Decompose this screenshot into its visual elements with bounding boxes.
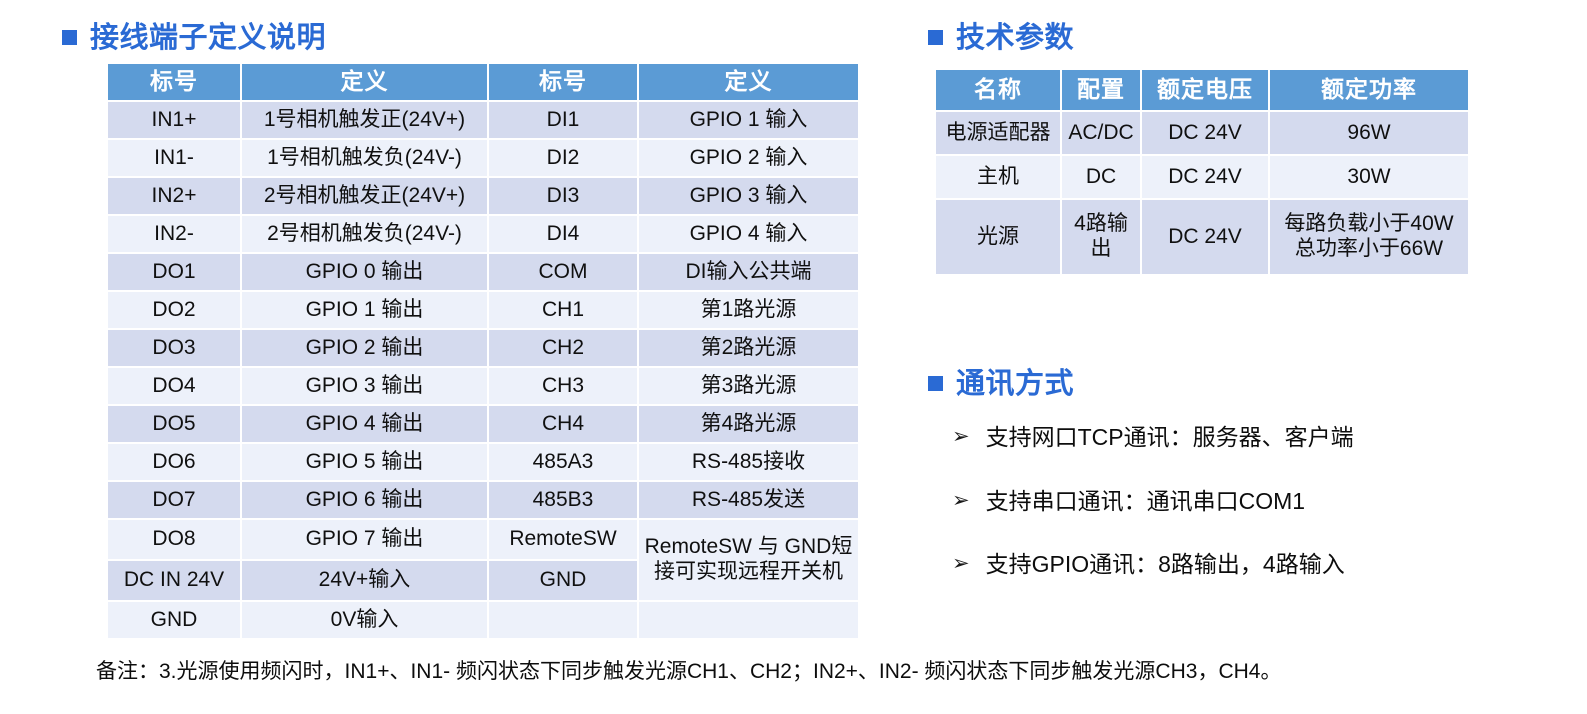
list-item: ➢ 支持串口通讯：通讯串口COM1 [952,488,1512,516]
column-header-rated-power: 额定功率 [1270,70,1468,110]
column-header-label-2: 标号 [489,64,637,100]
cell-definition-2: RS-485发送 [639,482,858,518]
table-row: IN1- 1号相机触发负(24V-) DI2 GPIO 2 输入 [108,140,858,176]
table-row: DO4 GPIO 3 输出 CH3 第3路光源 [108,368,858,404]
cell-label-2: CH2 [489,330,637,366]
cell-definition-2: GPIO 3 输入 [639,178,858,214]
cell-definition-1: GPIO 3 输出 [242,368,487,404]
cell-name: 光源 [936,200,1060,274]
cell-definition-1: GPIO 7 输出 [242,520,487,559]
list-item-label: 支持串口通讯：通讯串口COM1 [986,488,1305,516]
list-item: ➢ 支持网口TCP通讯：服务器、客户端 [952,424,1512,452]
communication-method-list: ➢ 支持网口TCP通讯：服务器、客户端 ➢ 支持串口通讯：通讯串口COM1 ➢ … [952,424,1512,615]
cell-label-1: GND [108,602,240,638]
technical-parameters-table: 名称 配置 额定电压 额定功率 电源适配器 AC/DC DC 24V 96W 主… [934,68,1470,276]
table-row: 主机 DC DC 24V 30W [936,156,1468,198]
list-item-label: 支持GPIO通讯：8路输出，4路输入 [986,551,1345,579]
cell-definition-1: GPIO 1 输出 [242,292,487,328]
table-row: DO8 GPIO 7 输出 RemoteSW RemoteSW 与 GND短接可… [108,520,858,559]
cell-label-2: RemoteSW [489,520,637,559]
cell-label-2: DI4 [489,216,637,252]
cell-definition-1: 1号相机触发负(24V-) [242,140,487,176]
table-row: DO3 GPIO 2 输出 CH2 第2路光源 [108,330,858,366]
table-row: 光源 4路输出 DC 24V 每路负载小于40W 总功率小于66W [936,200,1468,274]
square-bullet-icon [62,30,77,45]
cell-definition-2: 第4路光源 [639,406,858,442]
footnote-remark: 备注：3.光源使用频闪时，IN1+、IN1- 频闪状态下同步触发光源CH1、CH… [96,655,1281,685]
cell-definition-2: GPIO 1 输入 [639,102,858,138]
cell-label-1: IN2- [108,216,240,252]
cell-definition-2: GPIO 4 输入 [639,216,858,252]
cell-label-1: IN1+ [108,102,240,138]
cell-label-1: IN2+ [108,178,240,214]
cell-name: 主机 [936,156,1060,198]
cell-definition-2: GPIO 2 输入 [639,140,858,176]
cell-definition-1: GPIO 6 输出 [242,482,487,518]
table-row: IN2- 2号相机触发负(24V-) DI4 GPIO 4 输入 [108,216,858,252]
table-row: DO6 GPIO 5 输出 485A3 RS-485接收 [108,444,858,480]
cell-definition-1: GPIO 4 输出 [242,406,487,442]
section-heading-terminal: 接线端子定义说明 [62,14,326,56]
cell-label-1: DO4 [108,368,240,404]
cell-definition-2-empty [639,602,858,638]
cell-rated-power: 30W [1270,156,1468,198]
cell-label-2: COM [489,254,637,290]
column-header-definition-2: 定义 [639,64,858,100]
cell-label-1: DO7 [108,482,240,518]
table-row: 电源适配器 AC/DC DC 24V 96W [936,112,1468,154]
cell-rated-voltage: DC 24V [1142,156,1268,198]
list-item-label: 支持网口TCP通讯：服务器、客户端 [986,424,1354,452]
cell-definition-2: 第2路光源 [639,330,858,366]
table-row: DO5 GPIO 4 输出 CH4 第4路光源 [108,406,858,442]
arrow-bullet-icon: ➢ [952,424,970,449]
cell-label-2: CH1 [489,292,637,328]
column-header-rated-voltage: 额定电压 [1142,70,1268,110]
cell-rated-power-line1: 每路负载小于40W [1274,212,1464,237]
table-row: DO2 GPIO 1 输出 CH1 第1路光源 [108,292,858,328]
cell-rated-voltage: DC 24V [1142,200,1268,274]
section-heading-communication-label: 通讯方式 [956,360,1074,402]
cell-definition-1: GPIO 2 输出 [242,330,487,366]
table-row: IN1+ 1号相机触发正(24V+) DI1 GPIO 1 输入 [108,102,858,138]
cell-config: 4路输出 [1062,200,1140,274]
table-row: DO7 GPIO 6 输出 485B3 RS-485发送 [108,482,858,518]
column-header-config: 配置 [1062,70,1140,110]
terminal-definition-table: 标号 定义 标号 定义 IN1+ 1号相机触发正(24V+) DI1 GPIO … [106,62,860,640]
cell-label-2: 485A3 [489,444,637,480]
cell-definition-1: 1号相机触发正(24V+) [242,102,487,138]
cell-label-2: GND [489,561,637,600]
cell-rated-power-line2: 总功率小于66W [1274,237,1464,262]
cell-rated-power: 每路负载小于40W 总功率小于66W [1270,200,1468,274]
section-heading-communication: 通讯方式 [928,360,1074,402]
cell-definition-1: 2号相机触发负(24V-) [242,216,487,252]
cell-label-2: CH4 [489,406,637,442]
section-heading-tech-params-label: 技术参数 [956,14,1074,56]
cell-definition-1: GPIO 5 输出 [242,444,487,480]
section-heading-tech-params: 技术参数 [928,14,1074,56]
table-header-row: 标号 定义 标号 定义 [108,64,858,100]
cell-remote-sw-note: RemoteSW 与 GND短接可实现远程开关机 [639,520,858,600]
column-header-name: 名称 [936,70,1060,110]
cell-label-1: DC IN 24V [108,561,240,600]
cell-label-1: DO5 [108,406,240,442]
table-row: IN2+ 2号相机触发正(24V+) DI3 GPIO 3 输入 [108,178,858,214]
cell-definition-1: 24V+输入 [242,561,487,600]
cell-definition-2: DI输入公共端 [639,254,858,290]
cell-definition-2: 第3路光源 [639,368,858,404]
cell-config: DC [1062,156,1140,198]
cell-config: AC/DC [1062,112,1140,154]
arrow-bullet-icon: ➢ [952,488,970,513]
cell-label-2: DI1 [489,102,637,138]
cell-name: 电源适配器 [936,112,1060,154]
square-bullet-icon [928,30,943,45]
table-row: GND 0V输入 [108,602,858,638]
cell-label-1: DO1 [108,254,240,290]
square-bullet-icon [928,376,943,391]
cell-label-2: DI3 [489,178,637,214]
cell-label-2: 485B3 [489,482,637,518]
cell-rated-voltage: DC 24V [1142,112,1268,154]
list-item: ➢ 支持GPIO通讯：8路输出，4路输入 [952,551,1512,579]
cell-label-1: DO3 [108,330,240,366]
cell-label-1: IN1- [108,140,240,176]
column-header-label-1: 标号 [108,64,240,100]
cell-definition-2: 第1路光源 [639,292,858,328]
arrow-bullet-icon: ➢ [952,551,970,576]
cell-rated-power: 96W [1270,112,1468,154]
column-header-definition-1: 定义 [242,64,487,100]
cell-definition-1: 2号相机触发正(24V+) [242,178,487,214]
cell-label-2: DI2 [489,140,637,176]
cell-label-1: DO8 [108,520,240,559]
cell-label-1: DO6 [108,444,240,480]
cell-label-2-empty [489,602,637,638]
cell-label-2: CH3 [489,368,637,404]
cell-label-1: DO2 [108,292,240,328]
table-header-row: 名称 配置 额定电压 额定功率 [936,70,1468,110]
cell-definition-1: 0V输入 [242,602,487,638]
section-heading-terminal-label: 接线端子定义说明 [90,14,326,56]
cell-definition-1: GPIO 0 输出 [242,254,487,290]
cell-definition-2: RS-485接收 [639,444,858,480]
table-row: DO1 GPIO 0 输出 COM DI输入公共端 [108,254,858,290]
